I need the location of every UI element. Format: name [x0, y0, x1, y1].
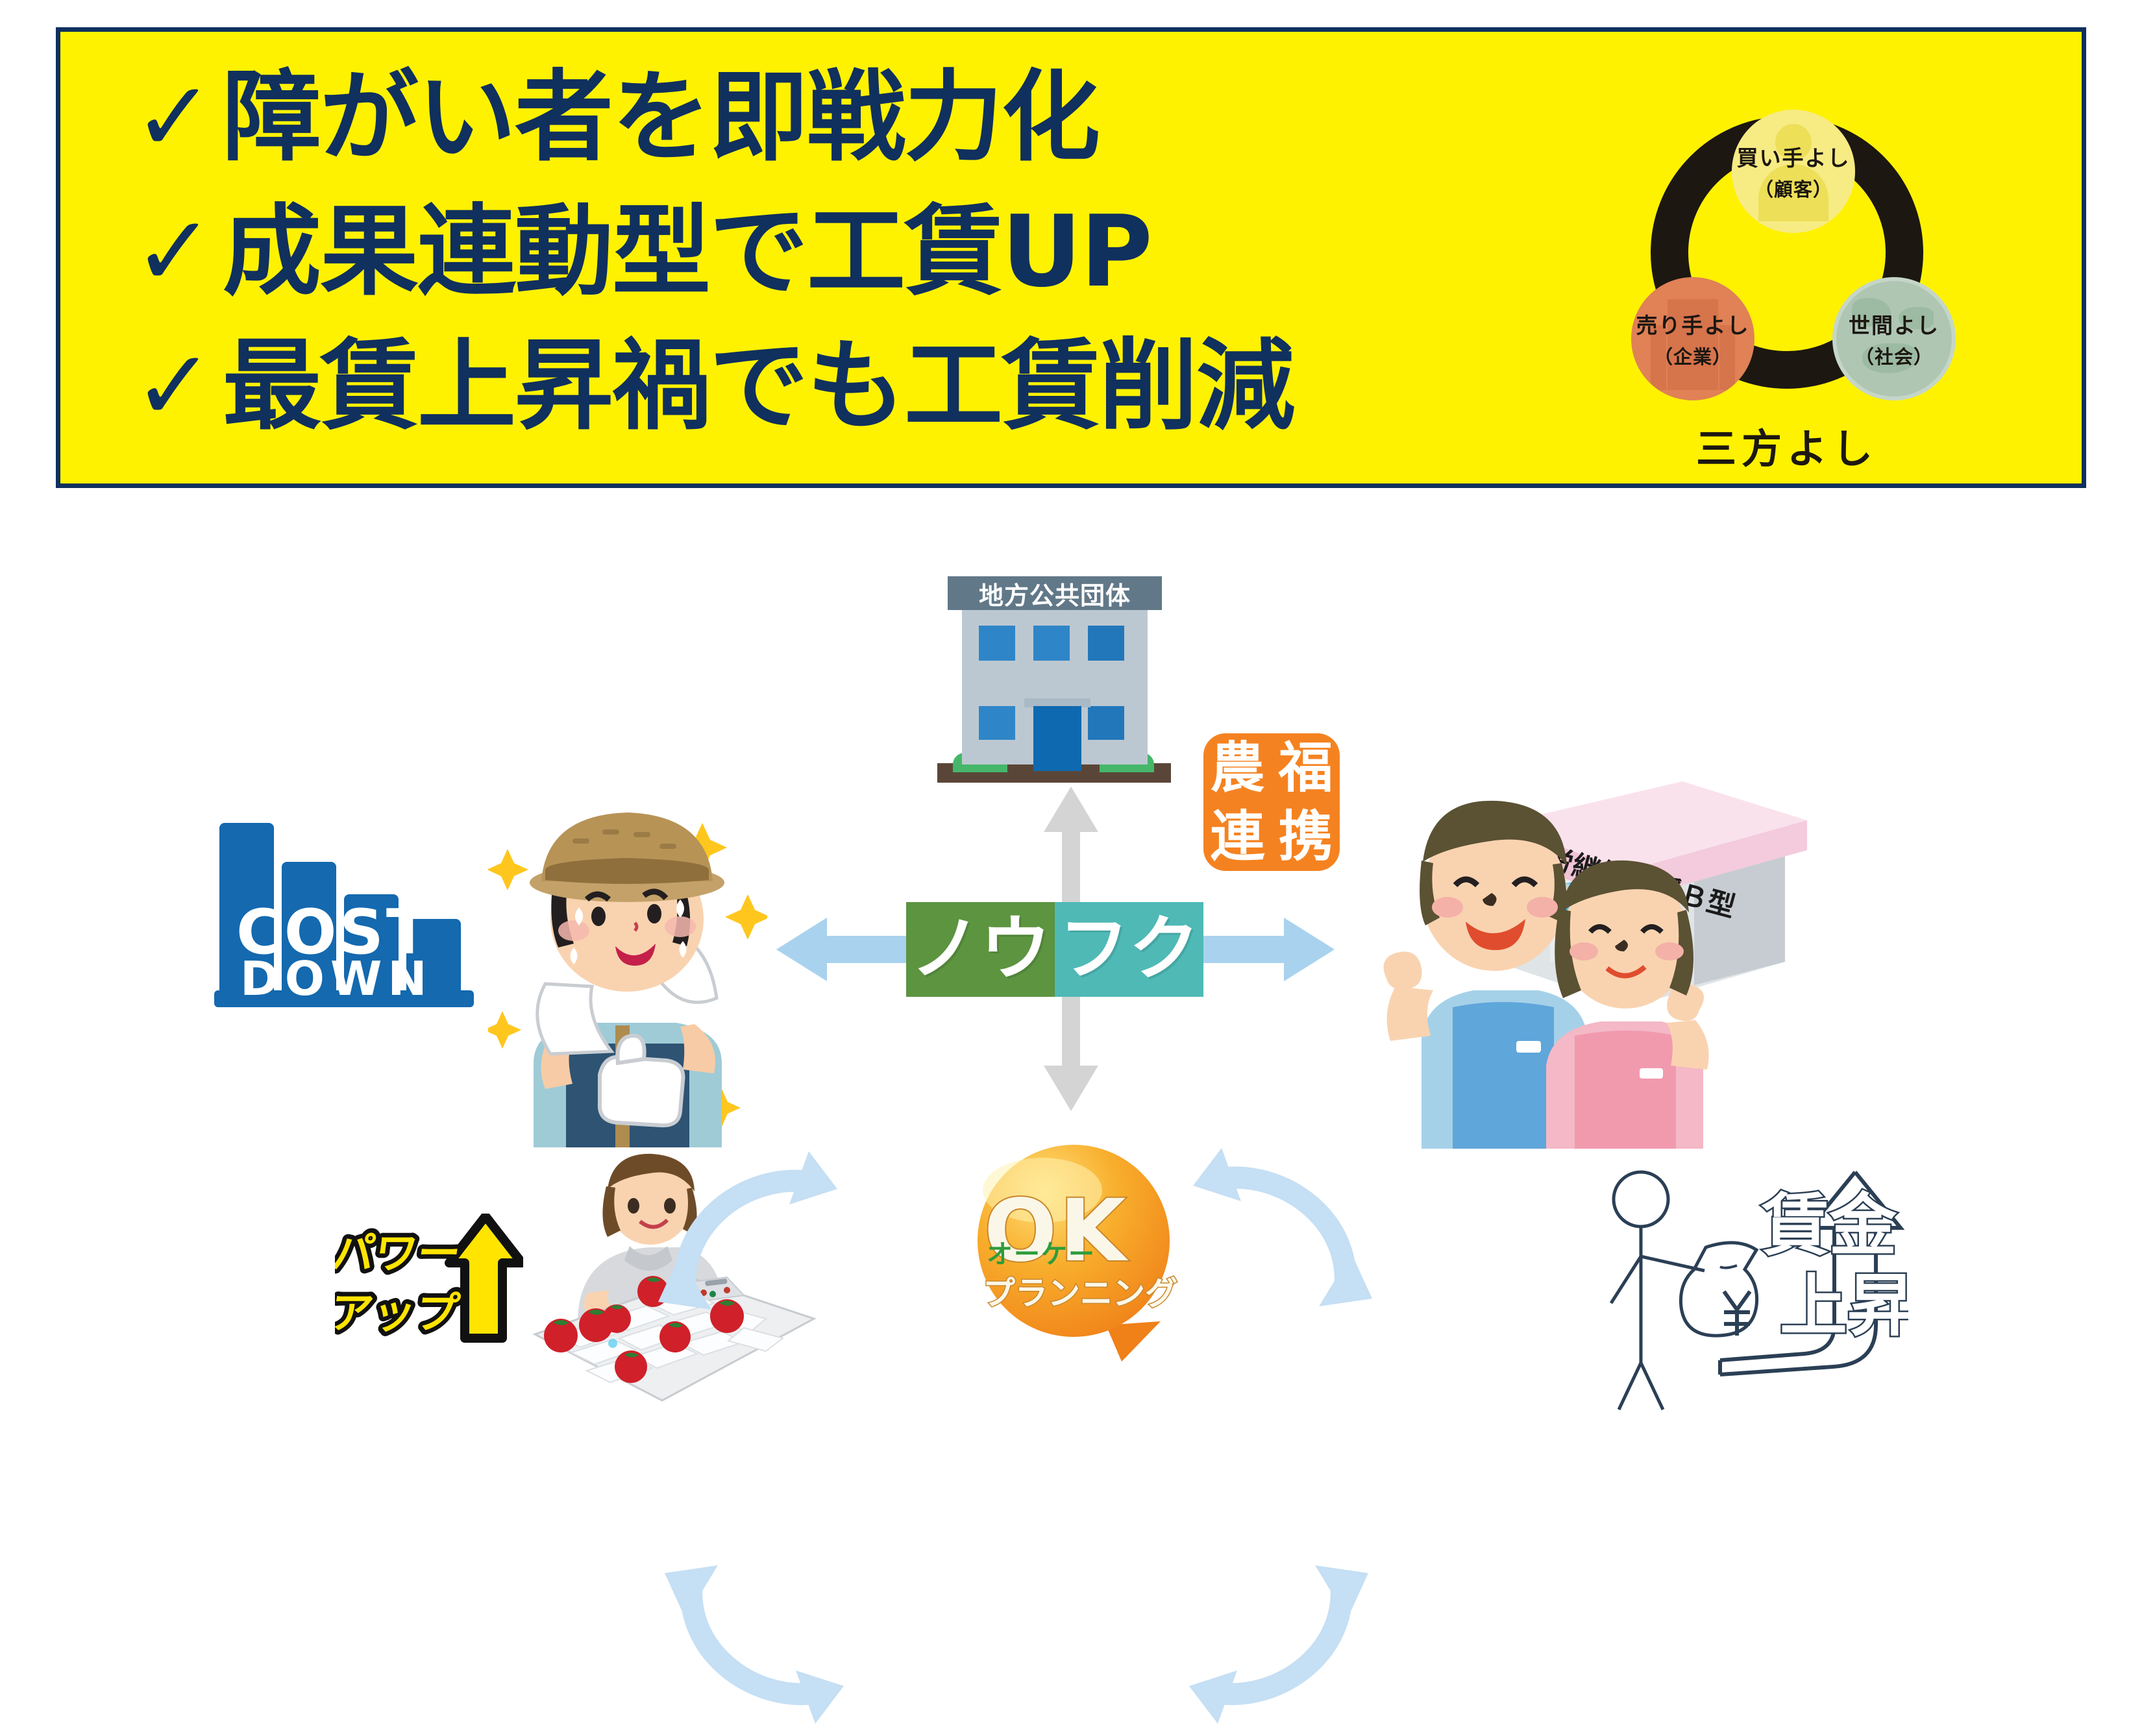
nofuku-badge-right: フク [1055, 902, 1203, 997]
renkei-char: 福 [1272, 733, 1340, 802]
renkei-char: 携 [1272, 802, 1340, 871]
building-door [1033, 706, 1081, 771]
nofuku-renkei-badge: 農 福 連 携 [1203, 733, 1340, 871]
nofuku-badge-right-label: フク [1059, 914, 1199, 984]
power-up-line1: パワー [335, 1228, 464, 1278]
ok-planning-reading: オーケー [987, 1240, 1096, 1269]
cost-down-graphic: COST DOWN [214, 796, 474, 1010]
ok-planning-sub: プランニング [983, 1275, 1177, 1312]
building-body [962, 610, 1148, 764]
headline-text: 障がい者を即戦力化 [223, 68, 1099, 167]
sanpou-node-sub: （顧客） [1754, 175, 1832, 202]
ok-planning-logo: OK オーケー プランニング [959, 1142, 1200, 1363]
renkei-char: 農 [1203, 733, 1272, 802]
sanpou-node-sub: （企業） [1654, 342, 1732, 369]
nofuku-cycle-diagram: 地方公共団体 [0, 493, 2142, 1424]
farmer-illustration [488, 784, 767, 1147]
left-arrow [776, 914, 919, 985]
curved-arrow-bottom-right [1189, 1558, 1377, 1736]
headline-item: ✓ 最賃上昇禍でも工賃削減 [125, 319, 1566, 453]
power-up-line2: アップ [335, 1288, 463, 1338]
nofuku-badge-left: ノウ [906, 902, 1055, 997]
sanpou-node-title: 買い手よし [1737, 141, 1851, 172]
government-building: 地方公共団体 [933, 576, 1175, 790]
curved-arrow-bottom-left [656, 1558, 844, 1736]
headline-item: ✓ 障がい者を即戦力化 [125, 50, 1566, 184]
wage-up-line2: 上昇 [1780, 1266, 1908, 1345]
sanpou-node-buyer: 買い手よし （顧客） [1732, 110, 1855, 233]
check-icon: ✓ [125, 337, 223, 435]
check-icon: ✓ [125, 69, 223, 166]
sanpou-node-title: 世間よし [1849, 308, 1939, 339]
sanpou-caption: 三方よし [1612, 416, 1962, 474]
headline-banner: ✓ 障がい者を即戦力化 ✓ 成果連動型で工賃UP ✓ 最賃上昇禍でも工賃削減 買… [56, 27, 2086, 488]
sanpou-node-seller: 売り手よし （企業） [1631, 277, 1754, 400]
right-arrow [1192, 914, 1335, 985]
headline-text: 最賃上昇禍でも工賃削減 [223, 337, 1294, 435]
sanpou-yoshi-logo: 買い手よし （顧客） 売り手よし （企業） 世間よし （社会） 三方よし [1612, 110, 1975, 499]
curved-arrow-top-right [1193, 1139, 1381, 1317]
sanpou-node-title: 売り手よし [1636, 308, 1750, 339]
curved-arrow-top-left [649, 1142, 837, 1321]
wage-up-line1: 賃金 [1761, 1186, 1897, 1265]
sanpou-node-sub: （社会） [1855, 342, 1933, 369]
person-icon [1753, 124, 1834, 221]
government-sign-label: 地方公共団体 [979, 576, 1131, 611]
headline-item: ✓ 成果連動型で工賃UP [125, 184, 1566, 319]
headline-list: ✓ 障がい者を即戦力化 ✓ 成果連動型で工賃UP ✓ 最賃上昇禍でも工賃削減 [125, 50, 1566, 453]
caregivers-illustration [1376, 779, 1714, 1149]
nofuku-badge: ノウ フク [906, 902, 1203, 997]
check-icon: ✓ [125, 203, 223, 300]
government-sign: 地方公共団体 [948, 576, 1162, 610]
renkei-char: 連 [1203, 802, 1272, 871]
cost-down-line2: DOWN [240, 951, 433, 1006]
wage-up-graphic: 賃金 上昇 [1603, 1168, 1908, 1415]
power-up-graphic: パワー アップ [335, 1214, 523, 1343]
nofuku-badge-left-label: ノウ [910, 914, 1050, 984]
sanpou-node-society: 世間よし （社会） [1832, 277, 1956, 400]
headline-text: 成果連動型で工賃UP [223, 202, 1151, 301]
